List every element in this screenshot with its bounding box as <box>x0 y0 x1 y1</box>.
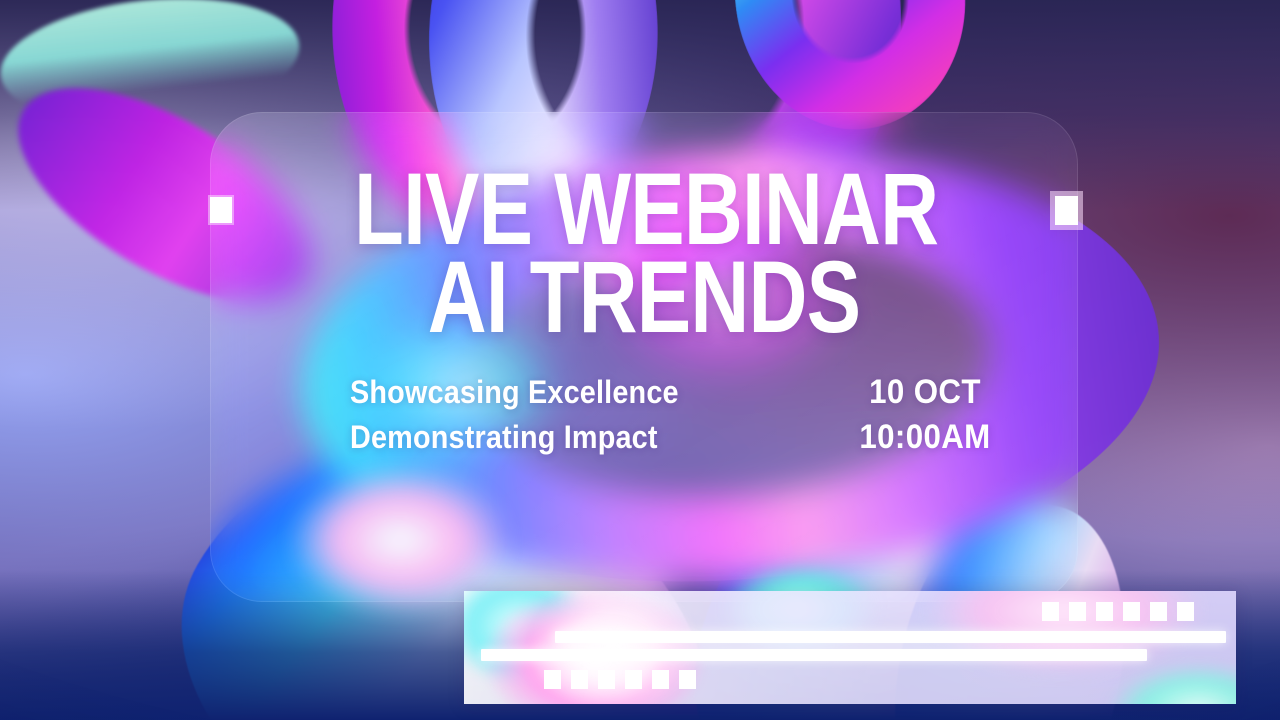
dot-icon <box>625 670 642 689</box>
dot-icon <box>1123 602 1140 621</box>
dot-icon <box>679 670 696 689</box>
dot-icon <box>1150 602 1167 621</box>
poster-canvas: LIVE WEBINAR AI TRENDS Showcasing Excell… <box>0 0 1280 720</box>
dot-icon <box>544 670 561 689</box>
dot-icon <box>1096 602 1113 621</box>
dot-icon <box>1069 602 1086 621</box>
placeholder-bar-lower <box>481 649 1147 661</box>
schedule-block: 10 OCT 10:00AM <box>780 370 1070 460</box>
poster-content: LIVE WEBINAR AI TRENDS Showcasing Excell… <box>210 112 1078 602</box>
event-time: 10:00AM <box>792 415 1059 460</box>
dot-icon <box>1042 602 1059 621</box>
dot-icon <box>598 670 615 689</box>
headline-line-2: AI TRENDS <box>297 254 991 342</box>
dot-icon <box>652 670 669 689</box>
placeholder-bar-upper <box>555 631 1226 643</box>
event-date: 10 OCT <box>792 370 1059 415</box>
square-marker-left-icon <box>210 197 232 223</box>
dot-row-bottom-left <box>544 670 696 689</box>
square-marker-right-icon <box>1055 196 1078 225</box>
info-panel <box>464 591 1236 704</box>
dot-row-top-right <box>1042 602 1194 621</box>
dot-icon <box>571 670 588 689</box>
dot-icon <box>1177 602 1194 621</box>
